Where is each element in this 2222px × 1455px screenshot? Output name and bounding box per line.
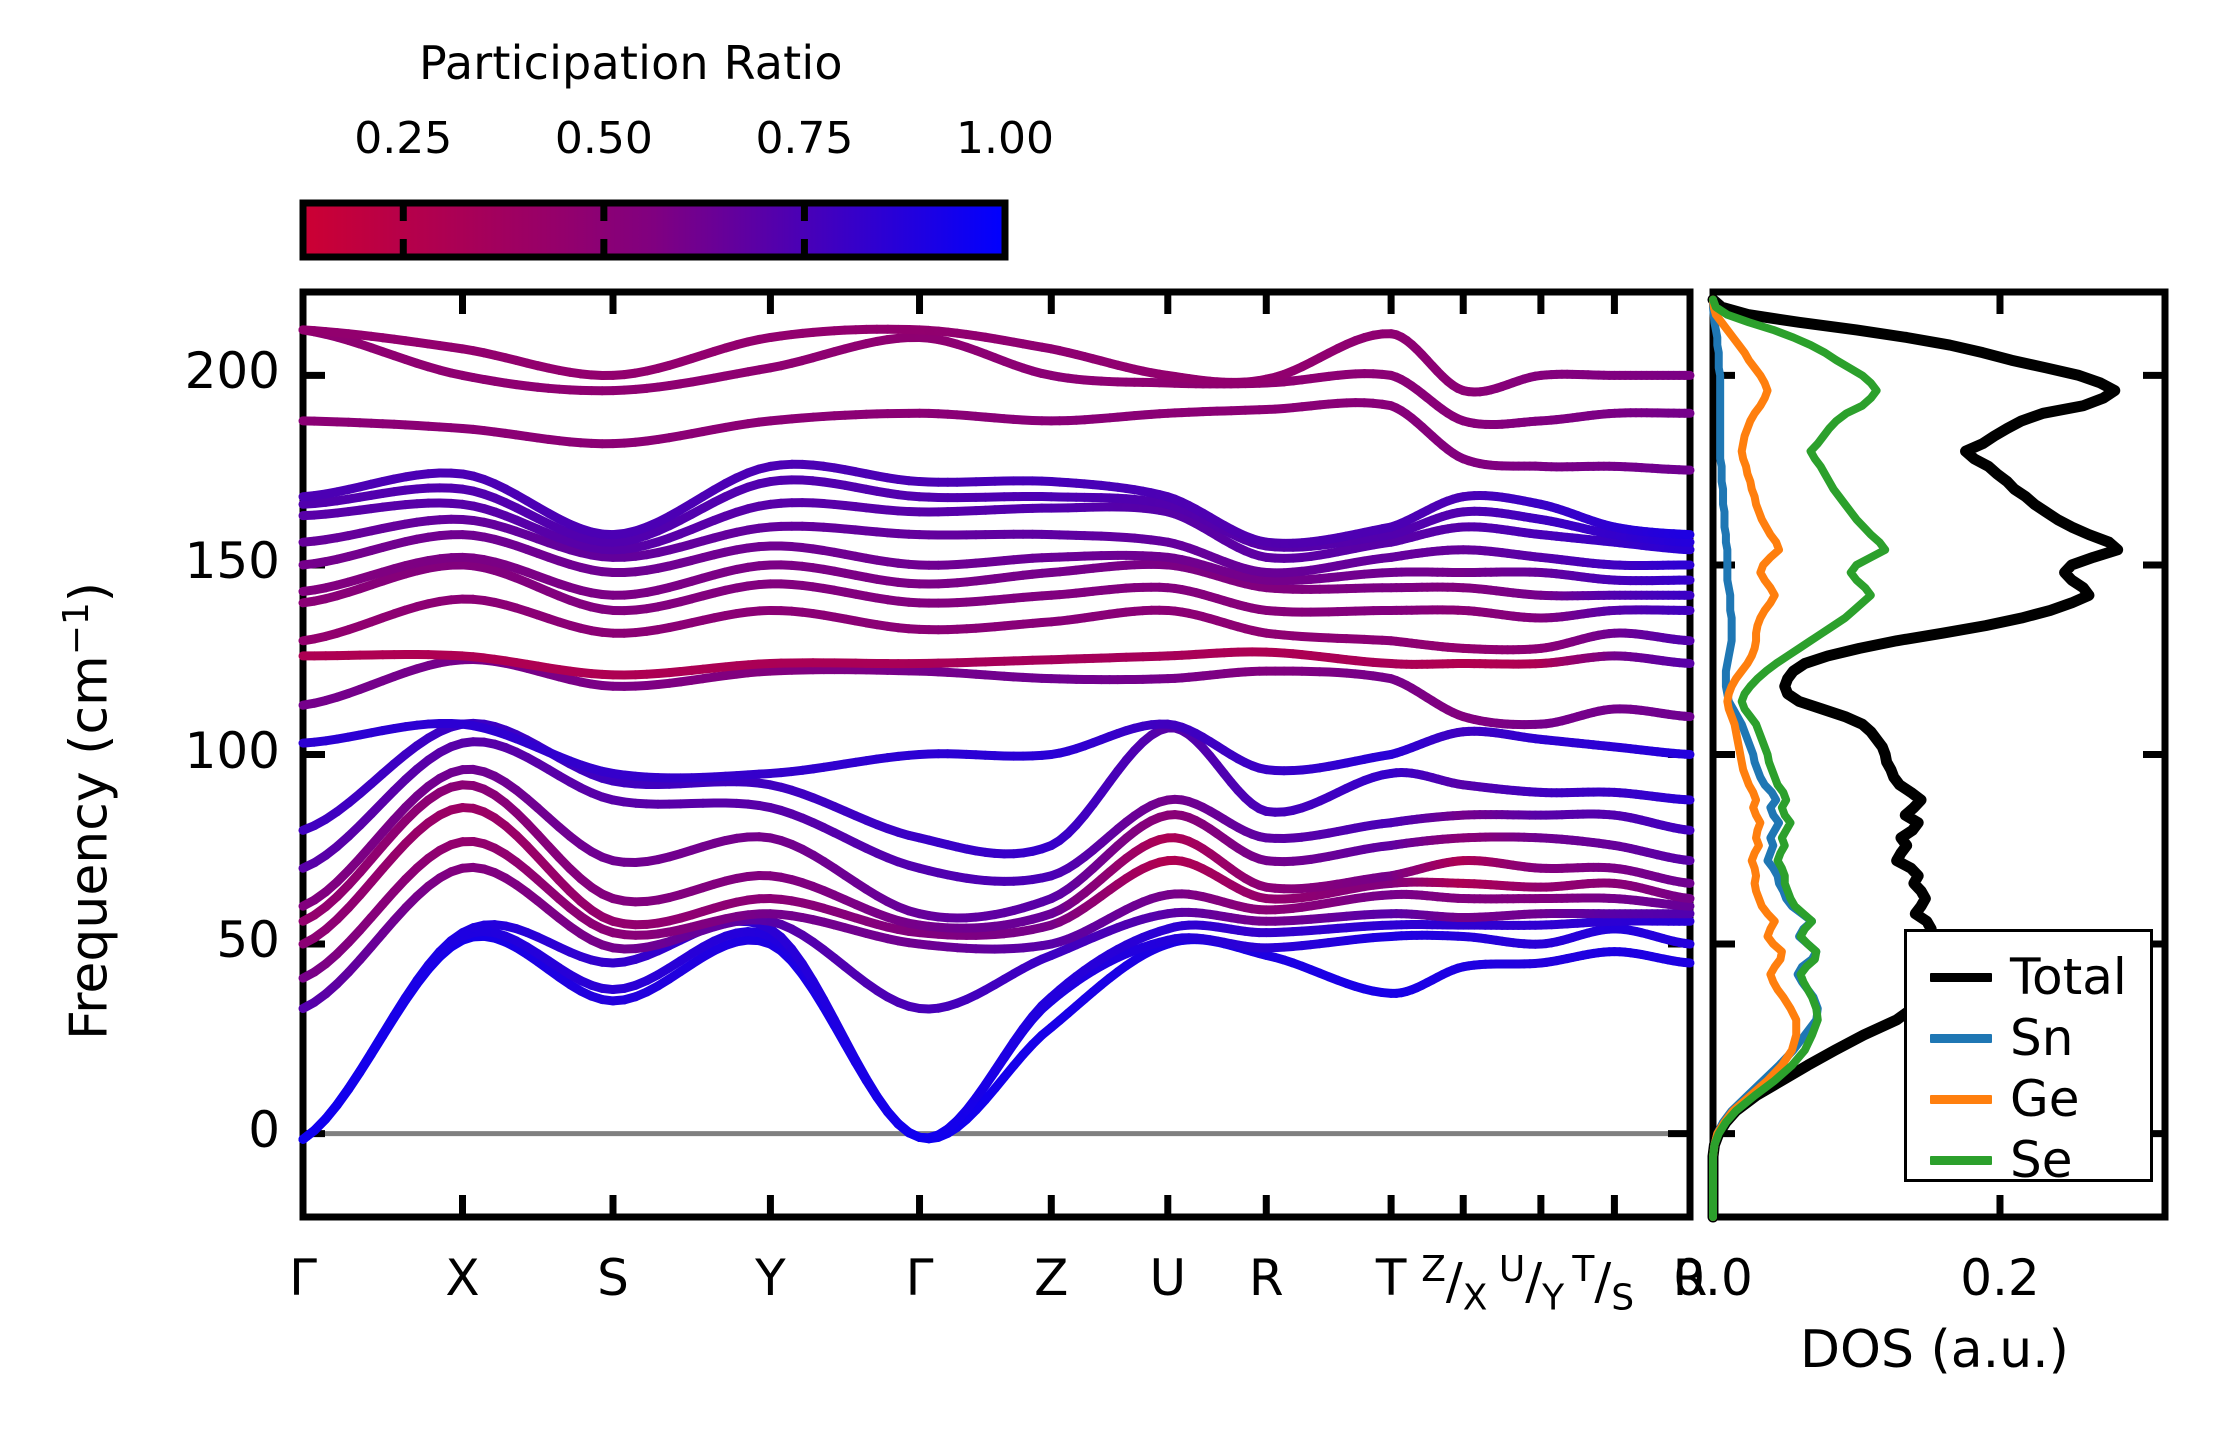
legend-swatch-line-icon (1930, 1034, 1992, 1043)
legend-item-sn[interactable]: Sn (1930, 1013, 2073, 1063)
legend-swatch-line-icon (1930, 1095, 1992, 1104)
legend-label: Se (2010, 1135, 2073, 1185)
phonon-dos-plot (0, 0, 2222, 1455)
legend-item-ge[interactable]: Ge (1930, 1074, 2080, 1124)
legend-label: Total (2010, 952, 2127, 1002)
legend-swatch-line-icon (1930, 1156, 1992, 1165)
legend-swatch-line-icon (1930, 973, 1992, 982)
legend-item-total[interactable]: Total (1930, 952, 2127, 1002)
legend-label: Sn (2010, 1013, 2073, 1063)
figure-root: Participation Ratio 0.250.500.751.00 Fre… (0, 0, 2222, 1455)
legend-label: Ge (2010, 1074, 2080, 1124)
dos-x-tick-label: 0.0 (1623, 1249, 1803, 1307)
legend-item-se[interactable]: Se (1930, 1135, 2073, 1185)
dos-x-tick-label: 0.2 (1910, 1249, 2090, 1307)
dos-x-axis-label: DOS (a.u.) (1800, 1320, 2069, 1380)
